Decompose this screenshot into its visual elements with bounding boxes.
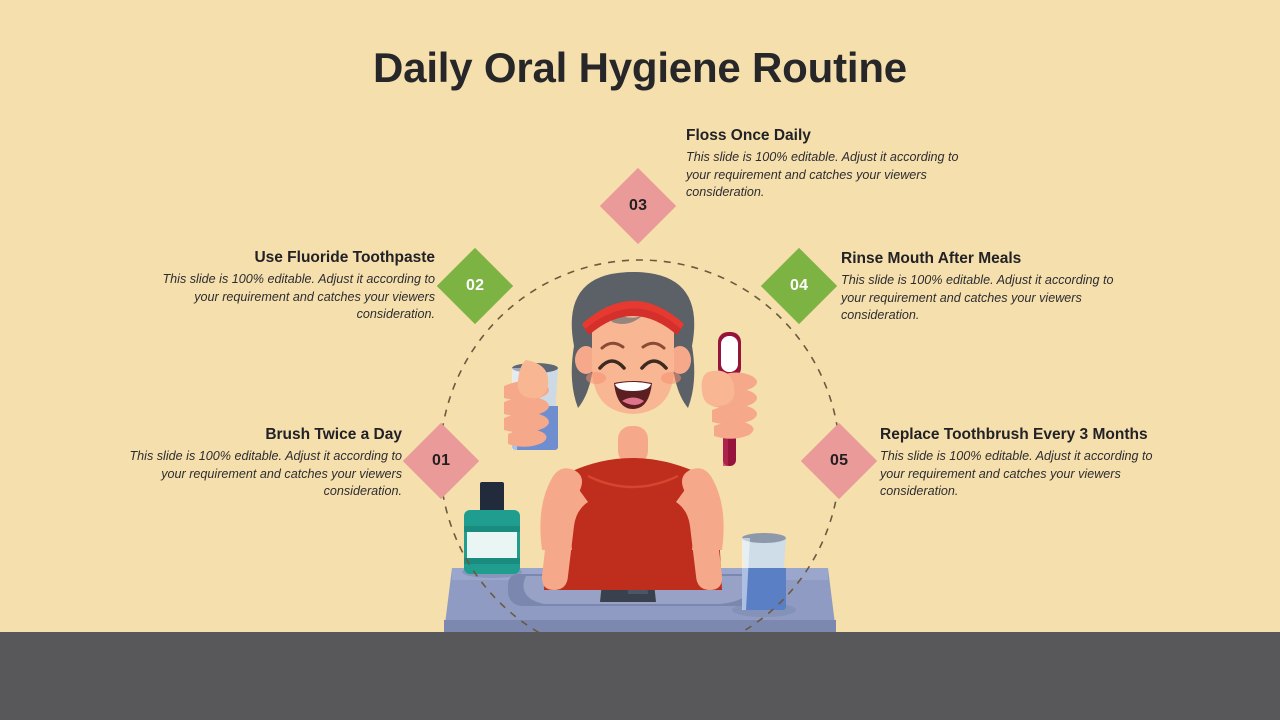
step-heading-05: Replace Toothbrush Every 3 Months — [880, 425, 1175, 444]
step-block-05: Replace Toothbrush Every 3 Months This s… — [880, 425, 1175, 501]
step-block-03: Floss Once Daily This slide is 100% edit… — [686, 126, 972, 202]
step-number-02: 02 — [466, 277, 484, 295]
step-body-04: This slide is 100% editable. Adjust it a… — [841, 272, 1129, 324]
step-heading-02: Use Fluoride Toothpaste — [160, 248, 435, 267]
step-heading-01: Brush Twice a Day — [118, 425, 402, 444]
step-body-02: This slide is 100% editable. Adjust it a… — [160, 271, 435, 323]
step-block-02: Use Fluoride Toothpaste This slide is 10… — [160, 248, 435, 324]
step-body-05: This slide is 100% editable. Adjust it a… — [880, 448, 1175, 500]
slide-canvas: Daily Oral Hygiene Routine — [0, 0, 1280, 720]
step-heading-04: Rinse Mouth After Meals — [841, 249, 1129, 268]
step-heading-03: Floss Once Daily — [686, 126, 972, 145]
step-block-01: Brush Twice a Day This slide is 100% edi… — [118, 425, 402, 501]
step-body-01: This slide is 100% editable. Adjust it a… — [118, 448, 402, 500]
step-number-04: 04 — [790, 277, 808, 295]
step-number-05: 05 — [830, 452, 848, 470]
step-number-03: 03 — [629, 197, 647, 215]
dashed-circle-connector — [438, 258, 842, 662]
step-body-03: This slide is 100% editable. Adjust it a… — [686, 149, 972, 201]
step-number-01: 01 — [432, 452, 450, 470]
footer-bar — [0, 632, 1280, 720]
step-block-04: Rinse Mouth After Meals This slide is 10… — [841, 249, 1129, 325]
step-marker-03[interactable]: 03 — [600, 168, 676, 244]
page-title: Daily Oral Hygiene Routine — [0, 44, 1280, 92]
